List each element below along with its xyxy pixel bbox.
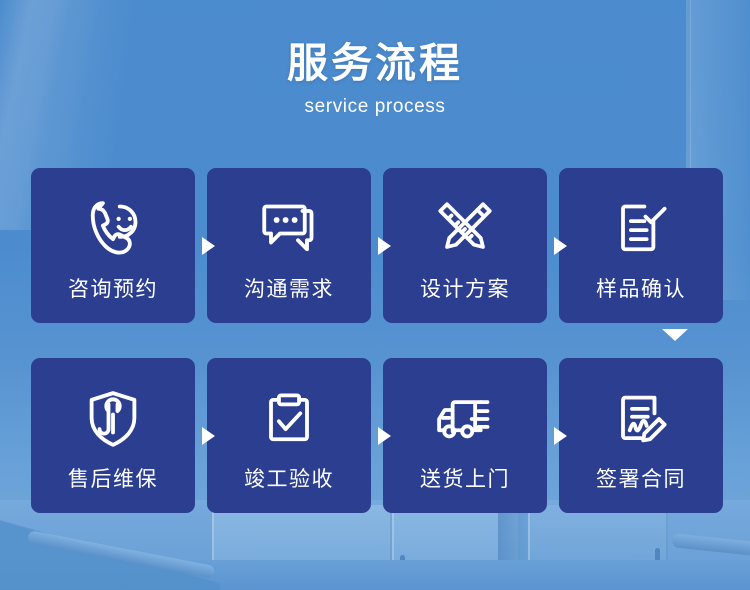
process-step-card-1[interactable]: 咨询预约 bbox=[31, 168, 195, 323]
process-step-card-8[interactable]: 签署合同 bbox=[559, 358, 723, 513]
delivery-truck-icon bbox=[429, 383, 501, 455]
process-step-label: 竣工验收 bbox=[244, 469, 334, 490]
document-check-icon bbox=[605, 193, 677, 265]
clipboard-check-icon bbox=[253, 383, 325, 455]
process-step-label: 设计方案 bbox=[420, 279, 510, 300]
arrow-right-icon bbox=[202, 427, 215, 445]
process-step-label: 样品确认 bbox=[596, 279, 686, 300]
arrow-right-icon bbox=[202, 237, 215, 255]
arrow-down-icon bbox=[662, 329, 688, 341]
shield-wrench-icon bbox=[77, 383, 149, 455]
process-step-card-4[interactable]: 样品确认 bbox=[559, 168, 723, 323]
pencil-ruler-icon bbox=[429, 193, 501, 265]
process-step-card-5[interactable]: 售后维保 bbox=[31, 358, 195, 513]
arrow-right-icon bbox=[378, 237, 391, 255]
page-subtitle: service process bbox=[0, 96, 750, 118]
process-row-2: 售后维保 竣工验收 bbox=[31, 358, 723, 513]
contract-signature-icon bbox=[605, 383, 677, 455]
arrow-right-icon bbox=[378, 427, 391, 445]
process-step-card-2[interactable]: 沟通需求 bbox=[207, 168, 371, 323]
arrow-right-icon bbox=[554, 427, 567, 445]
process-step-card-7[interactable]: 送货上门 bbox=[383, 358, 547, 513]
process-step-label: 售后维保 bbox=[68, 469, 158, 490]
process-step-label: 咨询预约 bbox=[68, 279, 158, 300]
process-step-label: 送货上门 bbox=[420, 469, 510, 490]
phone-smiley-icon bbox=[77, 193, 149, 265]
process-step-card-6[interactable]: 竣工验收 bbox=[207, 358, 371, 513]
arrow-right-icon bbox=[554, 237, 567, 255]
process-step-card-3[interactable]: 设计方案 bbox=[383, 168, 547, 323]
banner-header: 服务流程 service process bbox=[0, 40, 750, 118]
page-title: 服务流程 bbox=[0, 40, 750, 87]
process-steps-grid: 咨询预约 沟通需求 bbox=[31, 168, 723, 513]
process-step-label: 签署合同 bbox=[596, 469, 686, 490]
process-step-label: 沟通需求 bbox=[244, 279, 334, 300]
process-row-1: 咨询预约 沟通需求 bbox=[31, 168, 723, 323]
chat-bubbles-icon bbox=[253, 193, 325, 265]
service-process-banner: 服务流程 service process 咨询预约 bbox=[0, 0, 750, 590]
